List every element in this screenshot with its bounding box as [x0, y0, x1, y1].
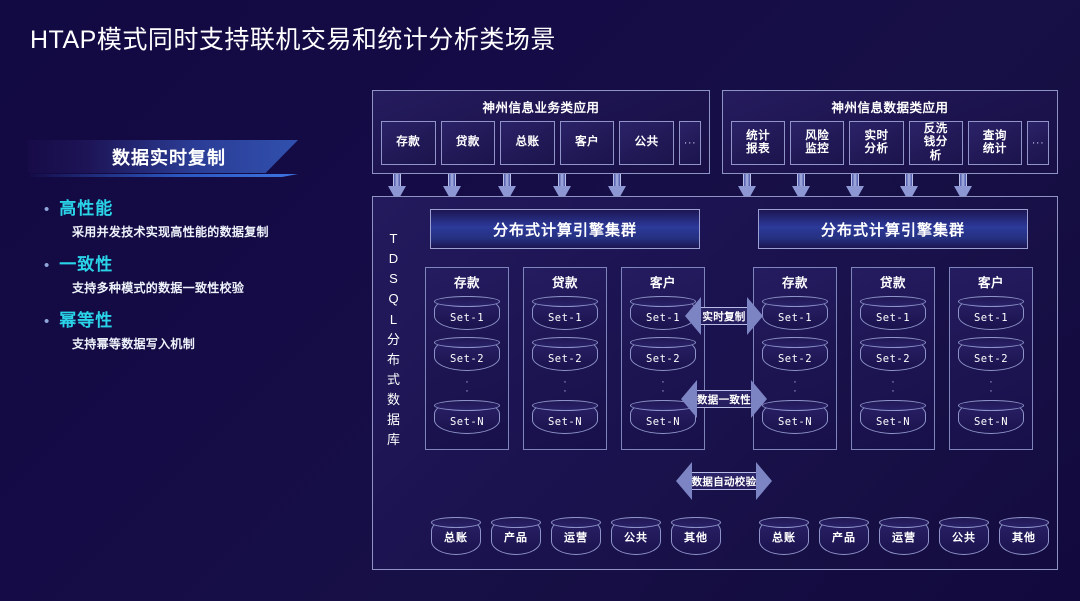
- database-set-cylinder[interactable]: Set-2: [860, 337, 926, 371]
- bottom-database-row-left: 总账 产品 运营 公共 其他: [431, 517, 721, 555]
- set-column: 客户 Set-1 Set-2 ·· Set-N: [949, 267, 1033, 450]
- database-label: 运营: [552, 529, 600, 545]
- vertical-label-char: 分: [381, 330, 407, 350]
- application-item[interactable]: 查询统计: [968, 121, 1022, 165]
- vertical-label-char: 布: [381, 350, 407, 370]
- application-item-more[interactable]: ···: [679, 121, 701, 165]
- vertical-ellipsis-icon: ··: [759, 378, 831, 397]
- database-label: 总账: [760, 529, 808, 545]
- database-cylinder[interactable]: 总账: [759, 517, 809, 555]
- sync-arrow-label: 数据自动校验: [676, 474, 772, 489]
- database-set-cylinder[interactable]: Set-1: [434, 296, 500, 330]
- application-item-more[interactable]: ···: [1027, 121, 1049, 165]
- feature-description: 支持多种模式的数据一致性校验: [72, 279, 358, 296]
- application-item[interactable]: 客户: [560, 121, 615, 165]
- list-item: • 一致性: [28, 250, 358, 275]
- feature-description: 采用并发技术实现高性能的数据复制: [72, 223, 358, 240]
- vertical-ellipsis-icon: ··: [955, 378, 1027, 397]
- set-label: Set-1: [861, 312, 925, 324]
- database-label: 产品: [492, 529, 540, 545]
- set-column-title: 存款: [431, 272, 503, 291]
- database-set-cylinder[interactable]: Set-1: [762, 296, 828, 330]
- database-set-cylinder[interactable]: Set-1: [532, 296, 598, 330]
- set-column: 贷款 Set-1 Set-2 ·· Set-N: [851, 267, 935, 450]
- application-item[interactable]: 贷款: [441, 121, 496, 165]
- vertical-label-char: L: [381, 310, 407, 330]
- set-label: Set-1: [533, 312, 597, 324]
- set-label: Set-2: [763, 353, 827, 365]
- database-cylinder[interactable]: 产品: [819, 517, 869, 555]
- database-cylinder[interactable]: 总账: [431, 517, 481, 555]
- database-label: 产品: [820, 529, 868, 545]
- vertical-label-char: 据: [381, 410, 407, 430]
- sync-arrow-realtime-replication: 实时复制: [685, 297, 763, 335]
- tdsql-database-panel: TDSQL分布式数据库 分布式计算引擎集群 存款 Set-1 Set-2 ·· …: [372, 196, 1058, 570]
- left-feature-panel: 数据实时复制 • 高性能 采用并发技术实现高性能的数据复制 • 一致性 支持多种…: [28, 140, 358, 362]
- set-label: Set-N: [435, 416, 499, 428]
- database-label: 公共: [940, 529, 988, 545]
- application-item[interactable]: 风险监控: [790, 121, 844, 165]
- database-cylinder[interactable]: 运营: [879, 517, 929, 555]
- application-item-list: 统计报表 风险监控 实时分析 反洗钱分析 查询统计 ···: [731, 121, 1049, 165]
- database-set-cylinder[interactable]: Set-2: [434, 337, 500, 371]
- database-cylinder[interactable]: 其他: [999, 517, 1049, 555]
- set-column: 客户 Set-1 Set-2 ·· Set-N: [621, 267, 705, 450]
- set-label: Set-1: [959, 312, 1023, 324]
- vertical-label-char: D: [381, 249, 407, 269]
- bullet-dot-icon: •: [44, 314, 49, 329]
- set-column-group: 存款 Set-1 Set-2 ·· Set-N 贷款 Set-1 Set-2 ·…: [743, 267, 1043, 450]
- vertical-label-char: 式: [381, 370, 407, 390]
- sync-arrow-label: 数据一致性: [681, 392, 767, 407]
- vertical-label-char: T: [381, 229, 407, 249]
- application-item[interactable]: 公共: [619, 121, 674, 165]
- feature-title: 一致性: [59, 250, 113, 275]
- vertical-label-char: Q: [381, 289, 407, 309]
- compute-engine-cluster: 分布式计算引擎集群: [758, 209, 1028, 249]
- bullet-dot-icon: •: [44, 258, 49, 273]
- set-column-title: 贷款: [857, 272, 929, 291]
- set-column: 存款 Set-1 Set-2 ·· Set-N: [425, 267, 509, 450]
- set-label: Set-2: [861, 353, 925, 365]
- section-banner-label: 数据实时复制: [100, 144, 226, 170]
- set-label: Set-2: [959, 353, 1023, 365]
- vertical-ellipsis-icon: ··: [529, 378, 601, 397]
- tdsql-cluster-left: 分布式计算引擎集群 存款 Set-1 Set-2 ·· Set-N 贷款 Set…: [415, 209, 715, 450]
- set-column-title: 客户: [955, 272, 1027, 291]
- database-label: 运营: [880, 529, 928, 545]
- database-cylinder[interactable]: 公共: [611, 517, 661, 555]
- section-banner-shape: 数据实时复制: [28, 140, 298, 173]
- list-item: • 幂等性: [28, 306, 358, 331]
- application-group-title: 神州信息数据类应用: [731, 97, 1049, 116]
- feature-list: • 高性能 采用并发技术实现高性能的数据复制 • 一致性 支持多种模式的数据一致…: [28, 194, 358, 352]
- vertical-label-char: 库: [381, 430, 407, 450]
- database-cylinder[interactable]: 产品: [491, 517, 541, 555]
- set-column-group: 存款 Set-1 Set-2 ·· Set-N 贷款 Set-1 Set-2 ·…: [415, 267, 715, 450]
- feature-description: 支持幂等数据写入机制: [72, 335, 358, 352]
- database-cylinder[interactable]: 公共: [939, 517, 989, 555]
- database-cylinder[interactable]: 运营: [551, 517, 601, 555]
- bullet-dot-icon: •: [44, 202, 49, 217]
- database-set-cylinder[interactable]: Set-N: [860, 400, 926, 434]
- database-set-cylinder[interactable]: Set-1: [958, 296, 1024, 330]
- application-item[interactable]: 统计报表: [731, 121, 785, 165]
- feature-title: 幂等性: [59, 306, 113, 331]
- set-column: 贷款 Set-1 Set-2 ·· Set-N: [523, 267, 607, 450]
- set-label: Set-2: [533, 353, 597, 365]
- sync-arrow-auto-verification: 数据自动校验: [676, 462, 772, 500]
- set-label: Set-N: [763, 416, 827, 428]
- application-group-business: 神州信息业务类应用 存款 贷款 总账 客户 公共 ···: [372, 90, 710, 174]
- application-item[interactable]: 反洗钱分析: [909, 121, 963, 165]
- set-column-title: 客户: [627, 272, 699, 291]
- section-banner-underline: [30, 174, 298, 177]
- database-set-cylinder[interactable]: Set-N: [532, 400, 598, 434]
- set-label: Set-2: [631, 353, 695, 365]
- feature-title: 高性能: [59, 194, 113, 219]
- application-item[interactable]: 总账: [500, 121, 555, 165]
- vertical-ellipsis-icon: ··: [857, 378, 929, 397]
- database-set-cylinder[interactable]: Set-2: [762, 337, 828, 371]
- page-title: HTAP模式同时支持联机交易和统计分析类场景: [30, 20, 556, 56]
- set-column-title: 存款: [759, 272, 831, 291]
- application-item-list: 存款 贷款 总账 客户 公共 ···: [381, 121, 701, 165]
- database-label: 其他: [672, 529, 720, 545]
- set-label: Set-N: [959, 416, 1023, 428]
- compute-engine-cluster: 分布式计算引擎集群: [430, 209, 700, 249]
- database-set-cylinder[interactable]: Set-2: [630, 337, 696, 371]
- set-label: Set-1: [435, 312, 499, 324]
- database-set-cylinder[interactable]: Set-N: [762, 400, 828, 434]
- application-item[interactable]: 实时分析: [849, 121, 903, 165]
- database-label: 公共: [612, 529, 660, 545]
- set-label: Set-1: [763, 312, 827, 324]
- vertical-label-char: 数: [381, 390, 407, 410]
- application-item[interactable]: 存款: [381, 121, 436, 165]
- application-group-data: 神州信息数据类应用 统计报表 风险监控 实时分析 反洗钱分析 查询统计 ···: [722, 90, 1058, 174]
- tdsql-cluster-right: 分布式计算引擎集群 存款 Set-1 Set-2 ·· Set-N 贷款 Set…: [743, 209, 1043, 450]
- sync-arrow-data-consistency: 数据一致性: [681, 380, 767, 418]
- database-set-cylinder[interactable]: Set-N: [434, 400, 500, 434]
- database-cylinder[interactable]: 其他: [671, 517, 721, 555]
- set-label: Set-N: [861, 416, 925, 428]
- vertical-ellipsis-icon: ··: [431, 378, 503, 397]
- set-column: 存款 Set-1 Set-2 ·· Set-N: [753, 267, 837, 450]
- section-banner: 数据实时复制: [28, 140, 358, 180]
- database-label: 其他: [1000, 529, 1048, 545]
- list-item: • 高性能: [28, 194, 358, 219]
- bottom-database-row-right: 总账 产品 运营 公共 其他: [759, 517, 1049, 555]
- set-label: Set-N: [533, 416, 597, 428]
- application-group-title: 神州信息业务类应用: [381, 97, 701, 116]
- database-label: 总账: [432, 529, 480, 545]
- database-set-cylinder[interactable]: Set-N: [958, 400, 1024, 434]
- database-set-cylinder[interactable]: Set-2: [958, 337, 1024, 371]
- set-label: Set-2: [435, 353, 499, 365]
- sync-arrow-label: 实时复制: [685, 309, 763, 324]
- database-set-cylinder[interactable]: Set-1: [860, 296, 926, 330]
- set-column-title: 贷款: [529, 272, 601, 291]
- database-set-cylinder[interactable]: Set-2: [532, 337, 598, 371]
- vertical-label-char: S: [381, 269, 407, 289]
- tdsql-vertical-label: TDSQL分布式数据库: [381, 229, 407, 451]
